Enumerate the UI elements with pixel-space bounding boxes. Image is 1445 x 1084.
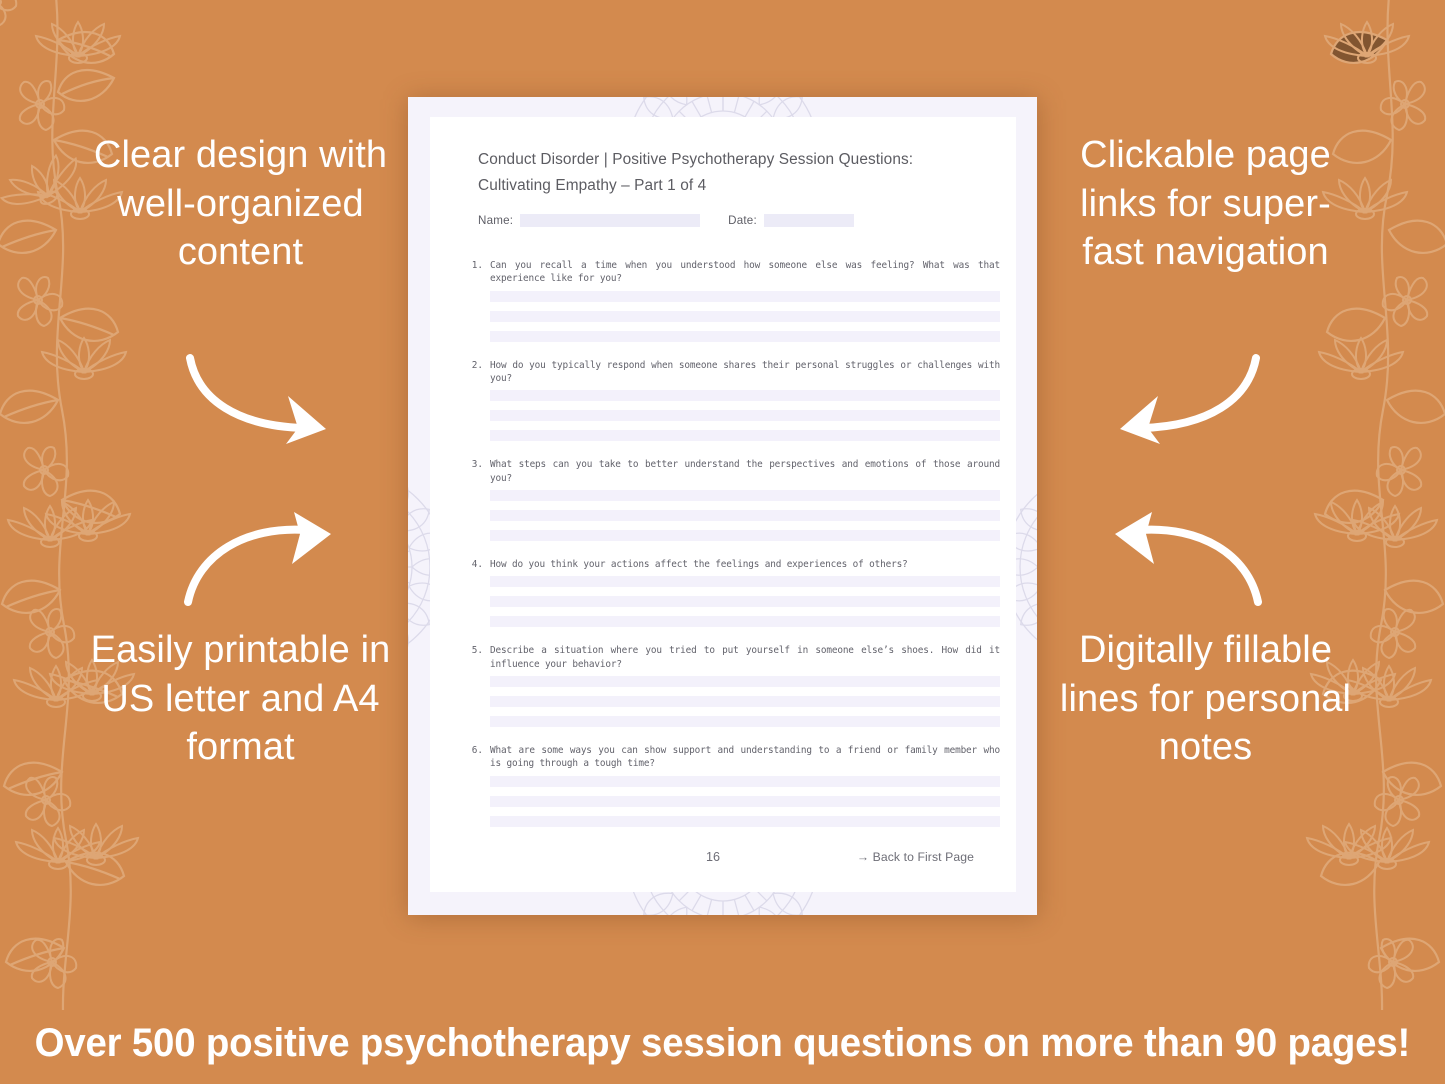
page-title-line2: Cultivating Empathy – Part 1 of 4	[478, 173, 978, 199]
question-item: 3. What steps can you take to better und…	[462, 458, 1000, 541]
question-item: 5. Describe a situation where you tried …	[462, 644, 1000, 727]
writing-lines	[490, 291, 1000, 342]
banner-text: Over 500 positive psychotherapy session …	[35, 1021, 1410, 1066]
writing-lines	[490, 676, 1000, 727]
question-list: 1. Can you recall a time when you unders…	[462, 259, 1000, 844]
document-frame: Conduct Disorder | Positive Psychotherap…	[408, 97, 1037, 915]
promo-top-left: Clear design with well-organized content	[88, 131, 393, 277]
writing-line[interactable]	[490, 696, 1000, 707]
page-number: 16	[706, 850, 720, 864]
question-item: 6. What are some ways you can show suppo…	[462, 744, 1000, 827]
writing-line[interactable]	[490, 796, 1000, 807]
question-text: How do you typically respond when someon…	[490, 359, 1000, 386]
writing-line[interactable]	[490, 596, 1000, 607]
question-item: 1. Can you recall a time when you unders…	[462, 259, 1000, 342]
writing-line[interactable]	[490, 311, 1000, 322]
writing-line[interactable]	[490, 510, 1000, 521]
worksheet-page: Conduct Disorder | Positive Psychotherap…	[430, 117, 1016, 892]
page-title: Conduct Disorder | Positive Psychotherap…	[478, 147, 978, 200]
writing-line[interactable]	[490, 430, 1000, 441]
curved-arrow-icon	[176, 512, 351, 607]
question-text: How do you think your actions affect the…	[490, 558, 1000, 571]
page-title-line1: Conduct Disorder | Positive Psychotherap…	[478, 147, 978, 173]
name-input[interactable]	[520, 214, 700, 227]
question-text: What are some ways you can show support …	[490, 744, 1000, 771]
back-to-first-page-link[interactable]: → Back to First Page	[857, 850, 974, 864]
question-number: 1.	[462, 259, 483, 342]
question-item: 4. How do you think your actions affect …	[462, 558, 1000, 627]
writing-lines	[490, 776, 1000, 827]
date-input[interactable]	[764, 214, 854, 227]
curved-arrow-icon	[1095, 512, 1270, 607]
question-item: 2. How do you typically respond when som…	[462, 359, 1000, 442]
curved-arrow-icon	[176, 352, 351, 447]
writing-lines	[490, 490, 1000, 541]
question-number: 3.	[462, 458, 483, 541]
writing-line[interactable]	[490, 816, 1000, 827]
writing-line[interactable]	[490, 716, 1000, 727]
writing-line[interactable]	[490, 490, 1000, 501]
curved-arrow-icon	[1095, 352, 1270, 447]
promo-bottom-left: Easily printable in US letter and A4 for…	[88, 626, 393, 772]
name-label: Name:	[478, 214, 513, 227]
writing-lines	[490, 576, 1000, 627]
writing-line[interactable]	[490, 390, 1000, 401]
page-footer: 16 → Back to First Page	[478, 850, 974, 864]
writing-line[interactable]	[490, 291, 1000, 302]
writing-line[interactable]	[490, 616, 1000, 627]
bottom-banner: Over 500 positive psychotherapy session …	[0, 1002, 1445, 1084]
writing-line[interactable]	[490, 676, 1000, 687]
question-text: Can you recall a time when you understoo…	[490, 259, 1000, 286]
promo-top-right: Clickable page links for super-fast navi…	[1053, 131, 1358, 277]
question-text: Describe a situation where you tried to …	[490, 644, 1000, 671]
question-number: 4.	[462, 558, 483, 627]
question-number: 2.	[462, 359, 483, 442]
writing-line[interactable]	[490, 576, 1000, 587]
writing-line[interactable]	[490, 410, 1000, 421]
question-number: 5.	[462, 644, 483, 727]
writing-line[interactable]	[490, 530, 1000, 541]
writing-lines	[490, 390, 1000, 441]
question-text: What steps can you take to better unders…	[490, 458, 1000, 485]
writing-line[interactable]	[490, 776, 1000, 787]
promo-bottom-right: Digitally fillable lines for personal no…	[1053, 626, 1358, 772]
date-label: Date:	[728, 214, 757, 227]
meta-row: Name: Date:	[478, 214, 854, 227]
question-number: 6.	[462, 744, 483, 827]
writing-line[interactable]	[490, 331, 1000, 342]
